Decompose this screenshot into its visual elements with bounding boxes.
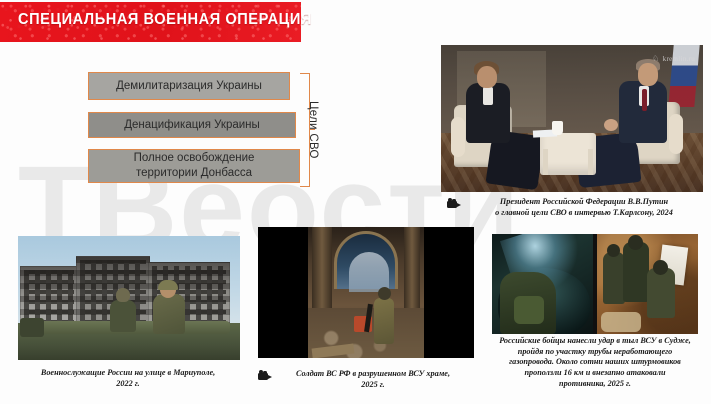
letterbox-left — [258, 227, 308, 358]
trench-soldier-2 — [623, 242, 649, 302]
goals-bracket-label: Цели СВО — [304, 78, 322, 182]
side-table — [540, 133, 596, 175]
goal-box-donbass-liberation[interactable]: Полное освобождение территории Донбасса — [88, 149, 300, 183]
banner-title-text: СПЕЦИАЛЬНАЯ ВОЕННАЯ ОПЕРАЦИЯ — [18, 11, 312, 29]
sudzha-caption-line-3: газопровода. Около сотни наших штурмовик… — [484, 357, 706, 368]
presentation-slide: ТВеости СПЕЦИАЛЬНАЯ ВОЕННАЯ ОПЕРАЦИЯ Дем… — [0, 0, 711, 404]
interviewer-shirt — [483, 87, 493, 105]
church-soldier-body — [374, 298, 394, 344]
mariupol-caption-line-2: 2022 г. — [12, 378, 244, 389]
sudzha-caption-line-2: пройдя по участку трубы неработающего — [484, 347, 706, 358]
mariupol-caption: Военнослужащие России на улице в Мариупо… — [12, 367, 244, 389]
church-interior — [308, 227, 424, 358]
goals-group: Демилитаризация Украины Денацификация Ук… — [88, 72, 300, 183]
church-caption-line-2: 2025 г. — [272, 379, 474, 390]
church-arch — [334, 231, 398, 289]
video-camera-icon — [258, 371, 272, 381]
president-hand — [604, 119, 618, 131]
goal-box-denazification[interactable]: Денацификация Украины — [88, 112, 296, 138]
sudzha-caption-line-1: Российские бойцы нанесли удар в тыл ВСУ … — [484, 336, 706, 347]
interview-caption-line-2: о главной цели СВО в интервью Т.Карлсону… — [462, 207, 706, 218]
soldier-2-helmet — [158, 280, 178, 290]
trench-soldier-3 — [647, 268, 675, 318]
church-caption: Солдат ВС РФ в разрушенном ВСУ храме, 20… — [272, 368, 474, 390]
double-eagle-icon: ♘ — [652, 54, 659, 63]
trench-soldier-1-head — [607, 244, 620, 257]
destroyed-church-soldier-photo[interactable] — [258, 227, 474, 358]
putin-carlson-interview-photo[interactable]: ♘kremlin.ru — [441, 45, 703, 192]
soldier-backpack — [514, 296, 544, 324]
tank-barrel-tip — [20, 318, 44, 337]
soldier-1-head — [116, 288, 130, 302]
mariupol-soldiers-photo[interactable] — [18, 236, 240, 360]
church-caption-line-1: Солдат ВС РФ в разрушенном ВСУ храме, — [272, 368, 474, 379]
trench-soldier-1 — [603, 252, 625, 304]
goals-bracket-label-text: Цели СВО — [307, 101, 319, 159]
trench-soldier-3-head — [653, 260, 668, 275]
pipeline-interior-tile — [492, 234, 593, 334]
cup-on-table — [552, 121, 563, 135]
interview-caption: Президент Российской Федерации В.В.Путин… — [462, 196, 706, 218]
soldier-1-body — [110, 300, 136, 332]
soldiers-with-flag-tile — [597, 234, 698, 334]
crawling-soldier — [500, 272, 556, 334]
trench-soldier-2-head — [628, 235, 643, 250]
sandbags — [601, 312, 641, 332]
church-soldier-head — [378, 287, 391, 300]
sudzha-caption: Российские бойцы нанесли удар в тыл ВСУ … — [484, 336, 706, 389]
mariupol-caption-line-1: Военнослужащие России на улице в Мариупо… — [12, 367, 244, 378]
interview-caption-line-1: Президент Российской Федерации В.В.Путин — [462, 196, 706, 207]
soldier-2-body — [153, 294, 185, 334]
sudzha-caption-line-5: противника, 2025 г. — [484, 379, 706, 390]
sudzha-pipeline-operation-photo[interactable] — [492, 234, 698, 334]
sudzha-caption-line-4: проползли 16 км и внезапно атаковали — [484, 368, 706, 379]
president-tie — [642, 89, 647, 111]
letterbox-right — [424, 227, 474, 358]
kremlin-watermark: ♘kremlin.ru — [652, 54, 695, 63]
kremlin-watermark-text: kremlin.ru — [663, 55, 695, 63]
interviewer-head — [477, 66, 497, 88]
president-head — [638, 63, 658, 86]
goal-box-demilitarization[interactable]: Демилитаризация Украины — [88, 72, 290, 100]
video-camera-icon — [447, 199, 461, 209]
title-banner: СПЕЦИАЛЬНАЯ ВОЕННАЯ ОПЕРАЦИЯ — [0, 2, 301, 42]
